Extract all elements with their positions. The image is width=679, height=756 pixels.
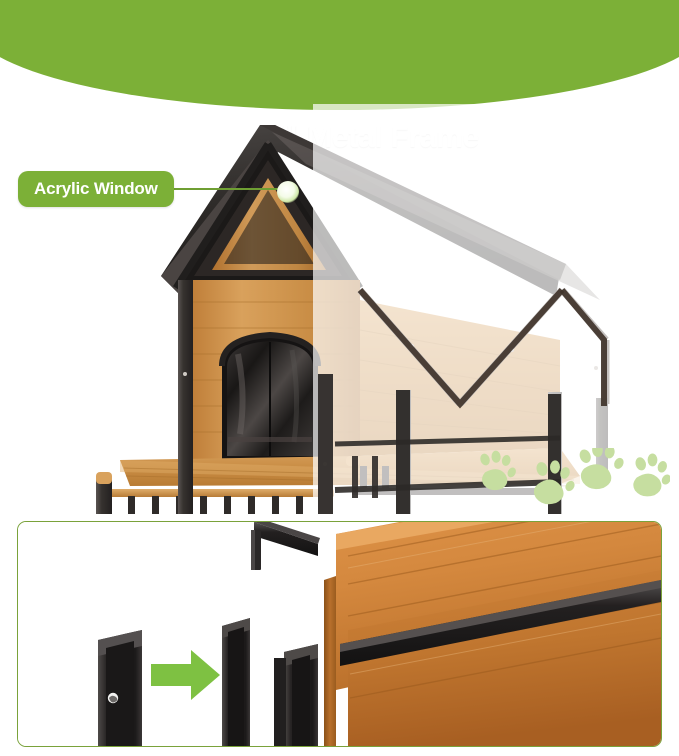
- assembly-detail-panel: [17, 521, 662, 747]
- paw-print-icon: [633, 453, 670, 496]
- header-banner: [0, 0, 679, 110]
- acrylic-window-callout[interactable]: Acrylic Window: [18, 171, 174, 207]
- railing: [108, 489, 334, 514]
- callout-target-glow-icon: [277, 181, 299, 203]
- metal-post-loose: [98, 630, 142, 746]
- screw-icon-visible: [108, 693, 118, 703]
- paw-print-icon: [578, 448, 626, 489]
- arched-doorway: [222, 335, 318, 460]
- paw-print-icon: [534, 460, 577, 504]
- callout-label: Acrylic Window: [34, 179, 158, 199]
- paw-print-icon: [479, 450, 518, 490]
- paw-print-group: [470, 448, 670, 508]
- product-infographic: All-Metal Frame Impact-Resistant, Deform…: [0, 0, 679, 756]
